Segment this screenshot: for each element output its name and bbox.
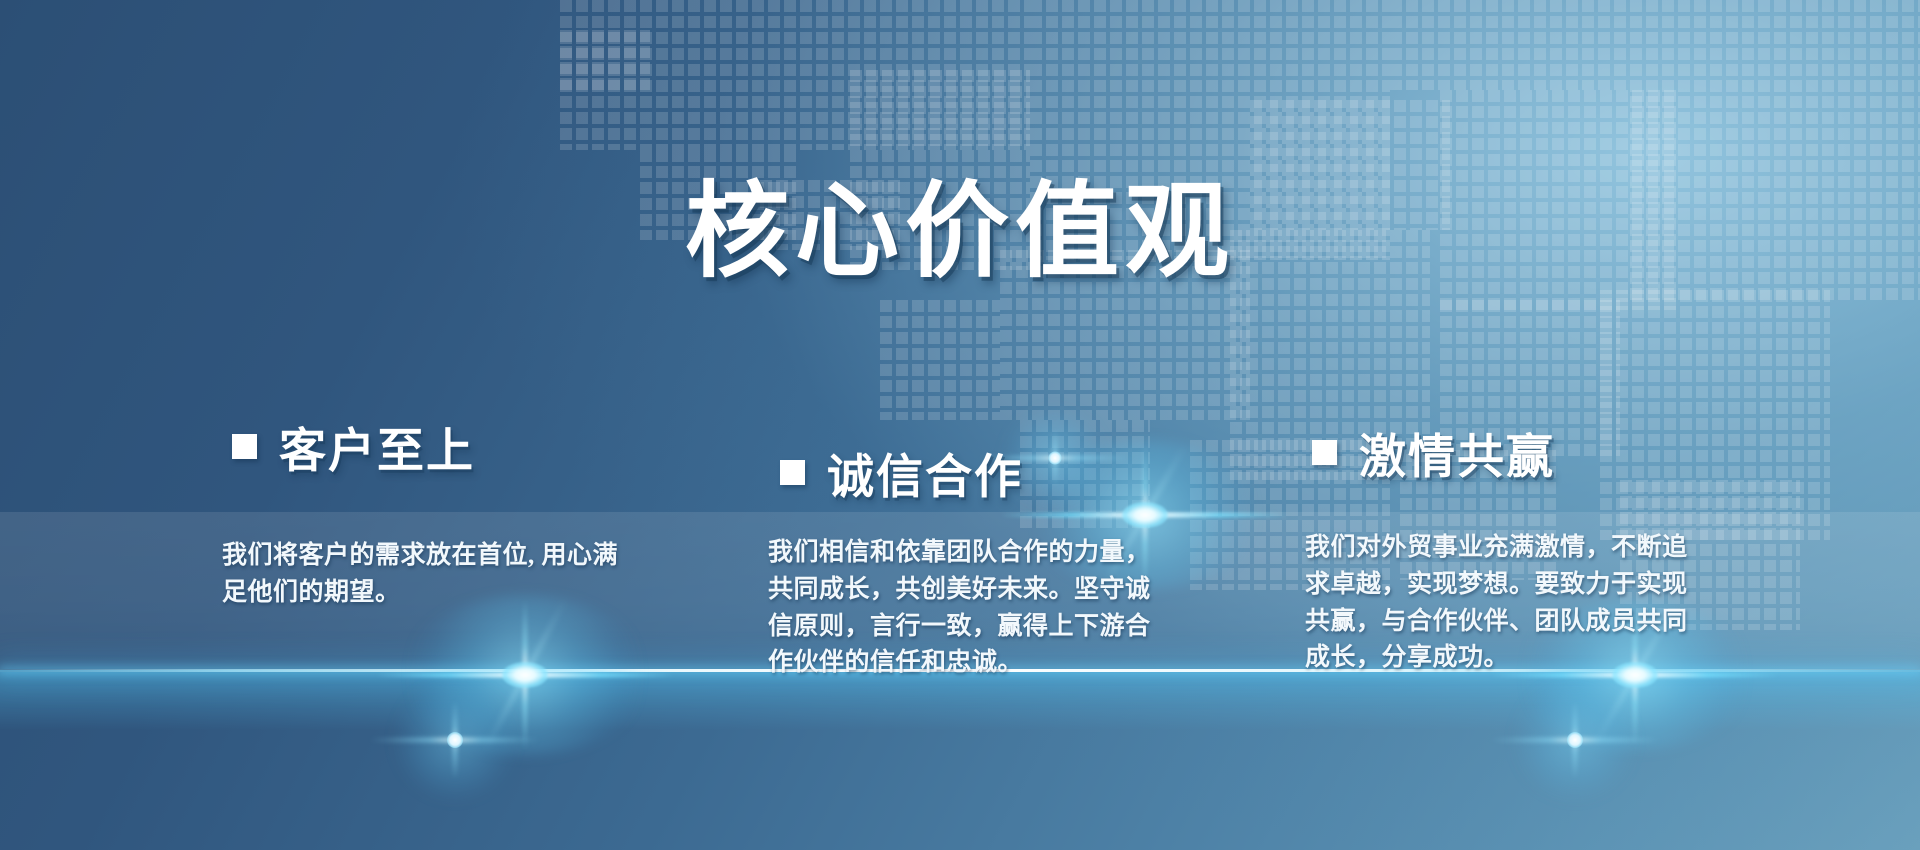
column-heading-text-3: 激情共赢 bbox=[1359, 418, 1555, 487]
column-body-text-2: 我们相信和依靠团队合作的力量，共同成长，共创美好未来。坚守诚信原则，言行一致，赢… bbox=[768, 535, 1168, 682]
column-heading-text-2: 诚信合作 bbox=[827, 438, 1023, 507]
square-bullet-icon bbox=[780, 460, 805, 485]
column-heading-3: 激情共赢 bbox=[1312, 418, 1555, 487]
value-columns: 客户至上 我们将客户的需求放在首位, 用心满足他们的期望。 诚信合作 我们相信和… bbox=[0, 0, 1920, 850]
square-bullet-icon bbox=[232, 434, 257, 459]
slide-canvas: 核心价值观 客户至上 我们将客户的需求放在首位, 用心满足他们的期望。 诚信合作… bbox=[0, 0, 1920, 850]
slide-content: 核心价值观 客户至上 我们将客户的需求放在首位, 用心满足他们的期望。 诚信合作… bbox=[0, 0, 1920, 850]
column-body-text-3: 我们对外贸事业充满激情，不断追求卓越，实现梦想。要致力于实现共赢，与合作伙伴、团… bbox=[1305, 530, 1709, 677]
column-heading-2: 诚信合作 bbox=[780, 438, 1023, 507]
column-heading-1: 客户至上 bbox=[232, 412, 475, 481]
column-heading-text-1: 客户至上 bbox=[279, 412, 475, 481]
column-body-text-1: 我们将客户的需求放在首位, 用心满足他们的期望。 bbox=[222, 538, 642, 612]
square-bullet-icon bbox=[1312, 440, 1337, 465]
